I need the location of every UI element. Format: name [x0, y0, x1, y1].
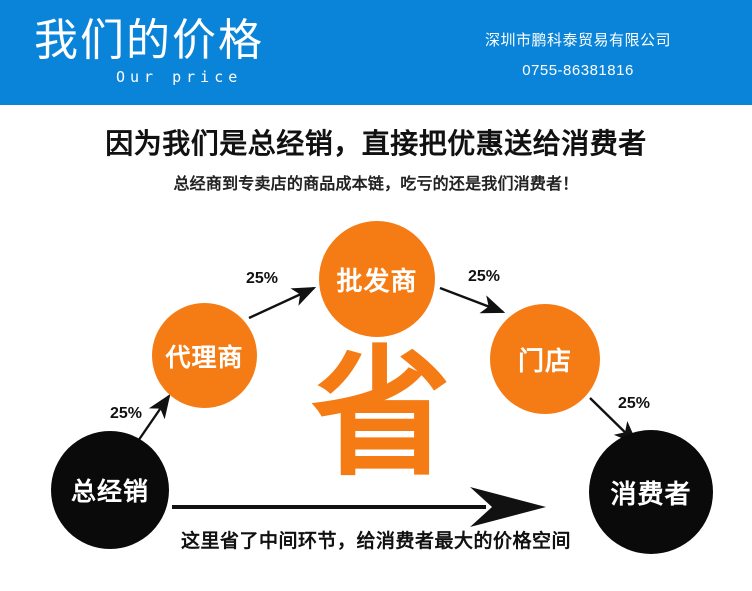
node-label: 代理商: [165, 338, 243, 374]
node-label: 门店: [518, 341, 572, 378]
percent-label-pifashang-mendian: 25%: [468, 267, 500, 287]
node-dailishang[interactable]: 代理商: [152, 303, 257, 408]
company-phone: 0755-86381816: [428, 60, 728, 82]
company-name: 深圳市鹏科泰贸易有限公司: [428, 30, 728, 52]
header-subtitle-english: Our price: [116, 68, 242, 86]
node-label: 消费者: [610, 474, 691, 511]
node-mendian[interactable]: 门店: [490, 304, 600, 414]
bottom-caption: 这里省了中间环节，给消费者最大的价格空间: [0, 529, 752, 555]
percent-label-zongjingxiao-dailishang: 25%: [110, 404, 142, 424]
header-title: 我们的价格: [34, 16, 264, 66]
price-infographic: 我们的价格 Our price 深圳市鹏科泰贸易有限公司 0755-863818…: [0, 0, 752, 591]
savings-character: 省: [306, 340, 456, 490]
percent-label-mendian-xiaofeizhe: 25%: [618, 394, 650, 414]
sub-heading: 总经商到专卖店的商品成本链，吃亏的还是我们消费者！: [0, 174, 752, 196]
percent-label-dailishang-pifashang: 25%: [246, 269, 278, 289]
header-banner: 我们的价格 Our price 深圳市鹏科泰贸易有限公司 0755-863818…: [0, 0, 752, 105]
arrow-pifashang-to-mendian: [440, 288, 503, 312]
shortcut-arrow-head: [470, 487, 546, 527]
main-heading: 因为我们是总经销，直接把优惠送给消费者: [0, 126, 752, 162]
arrow-dailishang-to-pifashang: [249, 288, 314, 318]
node-label: 总经销: [71, 472, 149, 508]
node-label: 批发商: [336, 261, 417, 298]
node-pifashang[interactable]: 批发商: [319, 221, 435, 337]
